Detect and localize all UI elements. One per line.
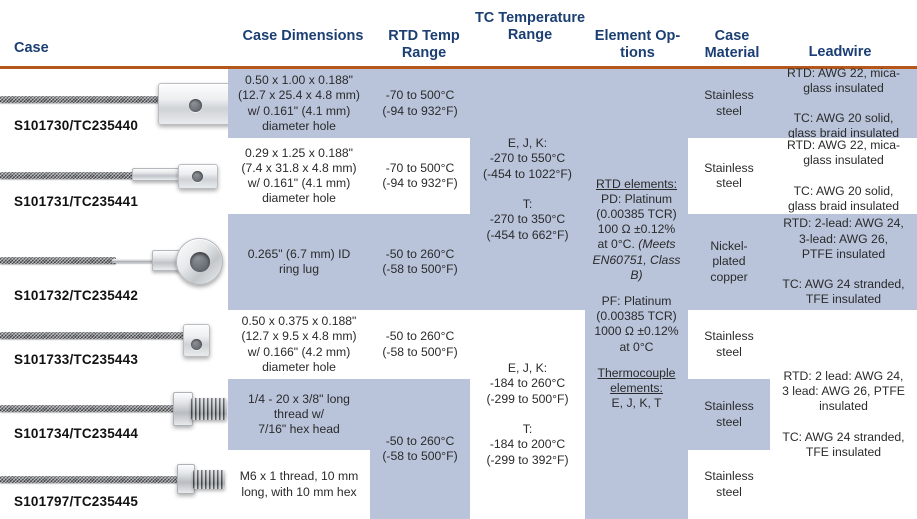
element-options-rtd-heading: RTD elements: [596, 177, 677, 192]
element-options-tc-types: E, J, K, T [612, 396, 662, 411]
case-material-cell-row-3: Nickel- plated copper [688, 214, 770, 310]
case-material-cell-row-1: Stainless steel [688, 69, 770, 138]
dimensions-cell-row-6: M6 x 1 thread, 10 mm long, with 10 mm he… [228, 450, 370, 519]
header-case-dimensions: Case Dimensions [228, 28, 378, 45]
case-material-cell-row-6: Stainless steel [688, 450, 770, 519]
header-case-material: Case Material [688, 28, 776, 62]
header-element-options: Element Op- tions [585, 28, 690, 62]
case-label-row-6: S101797/TC235445 [14, 494, 138, 509]
case-label-row-4: S101733/TC235443 [14, 352, 138, 367]
dimensions-cell-row-1: 0.50 x 1.00 x 0.188" (12.7 x 25.4 x 4.8 … [228, 69, 370, 138]
tc-range-cell-group-1: E, J, K: -270 to 550°C (-454 to 1022°F) … [470, 69, 585, 310]
element-options-tc-heading: Thermocouple elements: [598, 366, 676, 396]
header-case: Case [14, 40, 164, 57]
header-tc-temperature-range: TC Temperature Range [470, 10, 590, 44]
case-material-cell-row-2: Stainless steel [688, 138, 770, 214]
case-label-row-5: S101734/TC235444 [14, 426, 138, 441]
leadwire-cell-rows-4-6: RTD: 2 lead: AWG 24, 3 lead: AWG 26, PTF… [770, 310, 917, 519]
case-material-cell-row-4: Stainless steel [688, 310, 770, 379]
header-leadwire: Leadwire [770, 44, 910, 61]
spec-table-page: Case Case Dimensions RTD Temp Range TC T… [0, 0, 917, 519]
tc-range-cell-group-2: E, J, K: -184 to 260°C (-299 to 500°F) T… [470, 310, 585, 519]
rtd-range-cell-row-3: -50 to 260°C (-58 to 500°F) [370, 214, 470, 310]
table-header: Case Case Dimensions RTD Temp Range TC T… [0, 0, 917, 68]
case-cell-row-1: S101730/TC235440 [0, 69, 228, 138]
case-cell-row-2: S101731/TC235441 [0, 138, 228, 214]
case-label-row-2: S101731/TC235441 [14, 194, 138, 209]
rtd-range-cell-row-2: -70 to 500°C (-94 to 932°F) [370, 138, 470, 214]
case-cell-row-3: S101732/TC235442 [0, 214, 228, 310]
element-options-cell: RTD elements: PD: Platinum (0.00385 TCR)… [585, 69, 688, 519]
rtd-range-cell-rows-5-6: -50 to 260°C (-58 to 500°F) [370, 379, 470, 519]
leadwire-cell-row-1: RTD: AWG 22, mica- glass insulated TC: A… [770, 69, 917, 138]
header-rtd-temp-range: RTD Temp Range [370, 28, 478, 62]
element-options-rtd-pd: PD: Platinum (0.00385 TCR) 100 Ω ±0.12% … [590, 192, 683, 283]
leadwire-cell-row-2: RTD: AWG 22, mica- glass insulated TC: A… [770, 138, 917, 214]
case-cell-row-6: S101797/TC235445 [0, 450, 228, 519]
case-label-row-1: S101730/TC235440 [14, 118, 138, 133]
case-label-row-3: S101732/TC235442 [14, 288, 138, 303]
element-options-rtd-pf: PF: Platinum (0.00385 TCR) 1000 Ω ±0.12%… [594, 294, 678, 355]
rtd-range-cell-row-4: -50 to 260°C (-58 to 500°F) [370, 310, 470, 379]
dimensions-cell-row-5: 1/4 - 20 x 3/8" long thread w/ 7/16" hex… [228, 379, 370, 450]
case-material-cell-row-5: Stainless steel [688, 379, 770, 450]
leadwire-cell-row-3: RTD: 2-lead: AWG 24, 3-lead: AWG 26, PTF… [770, 214, 917, 310]
case-cell-row-5: S101734/TC235444 [0, 379, 228, 450]
dimensions-cell-row-4: 0.50 x 0.375 x 0.188" (12.7 x 9.5 x 4.8 … [228, 310, 370, 379]
rtd-range-cell-row-1: -70 to 500°C (-94 to 932°F) [370, 69, 470, 138]
dimensions-cell-row-3: 0.265" (6.7 mm) ID ring lug [228, 214, 370, 310]
dimensions-cell-row-2: 0.29 x 1.25 x 0.188" (7.4 x 31.8 x 4.8 m… [228, 138, 370, 214]
case-cell-row-4: S101733/TC235443 [0, 310, 228, 379]
